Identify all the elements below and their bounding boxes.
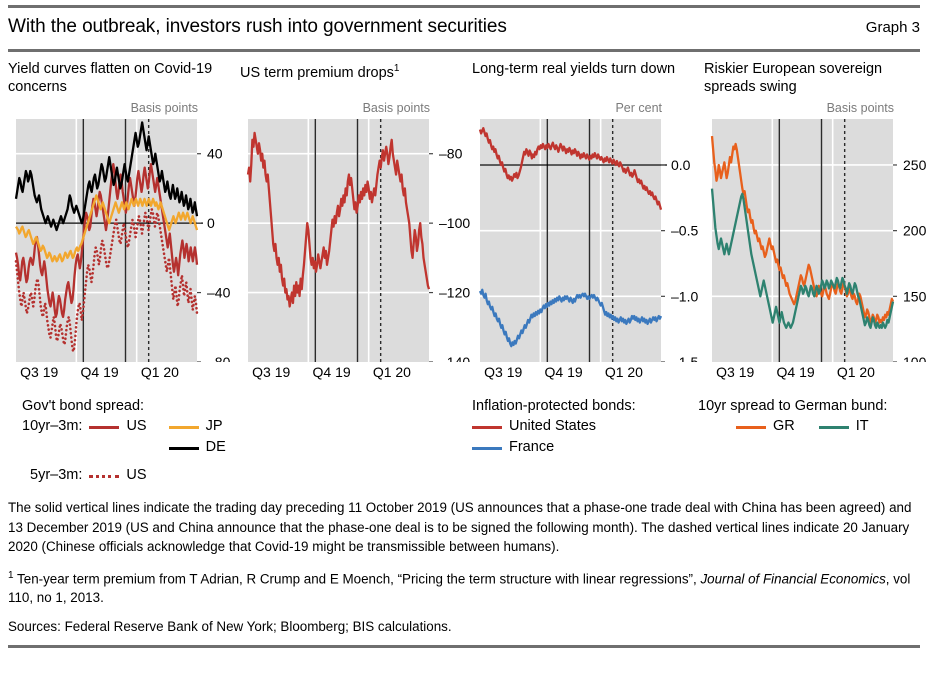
panel-title: Yield curves flatten on Covid-19 concern…	[8, 60, 240, 100]
legend-panel1: Gov't bond spread: 10yr–3m: US JP 10yr–3…	[8, 396, 236, 486]
legend-item-de: 10yr–3m: US DE	[8, 437, 236, 458]
legend-label-us-5yr: US	[126, 465, 146, 486]
panel-term-premium: US term premium drops1 Basis points –80–…	[240, 60, 472, 386]
panel-title: US term premium drops1	[240, 60, 472, 100]
bottom-rule	[8, 645, 920, 648]
plot-area: 0.0–0.5–1.0–1.5	[472, 117, 704, 362]
legend-label-de: DE	[206, 437, 226, 458]
panel-sovereign-spreads: Riskier European sovereign spreads swing…	[704, 60, 928, 386]
x-tick-label: Q1 20	[141, 364, 179, 380]
sources-line: Sources: Federal Reserve Bank of New Yor…	[8, 617, 920, 637]
legend-label-united-states: United States	[509, 416, 596, 437]
panel-title: Long-term real yields turn down	[472, 60, 704, 100]
panel-real-yields: Long-term real yields turn down Per cent…	[472, 60, 704, 386]
legend-item-france: France	[464, 437, 692, 458]
footnote-text-a: Ten-year term premium from T Adrian, R C…	[17, 571, 700, 586]
panel-title: Riskier European sovereign spreads swing	[704, 60, 928, 100]
x-axis: Q3 19Q4 19Q1 20	[704, 362, 928, 386]
svg-text:–100: –100	[439, 215, 470, 231]
svg-text:–80: –80	[207, 354, 231, 362]
footnote-number: 1	[8, 570, 14, 581]
legend-swatch-us-solid	[89, 421, 119, 433]
legend-heading: Inflation-protected bonds:	[464, 396, 692, 416]
legend-item-gr-it: GR IT	[692, 416, 920, 437]
graph-number: Graph 3	[866, 19, 920, 36]
legend-swatch-it	[819, 421, 849, 433]
panel-yield-curves: Yield curves flatten on Covid-19 concern…	[8, 60, 240, 386]
legend-swatch-united-states	[472, 421, 502, 433]
legend-panel4: 10yr spread to German bund: GR IT	[692, 396, 920, 486]
plot-area: 400–40–80	[8, 117, 240, 362]
footnote-1: 1 Ten-year term premium from T Adrian, R…	[8, 566, 920, 608]
plot-area: –80–100–120–140	[240, 117, 472, 362]
panel-unit-label: Basis points	[704, 100, 928, 117]
x-tick-label: Q4 19	[777, 364, 815, 380]
page-title: With the outbreak, investors rush into g…	[8, 14, 507, 39]
legend-swatch-us-dotted	[89, 470, 119, 482]
panel-title-text: Riskier European sovereign spreads swing	[704, 61, 882, 95]
x-axis: Q3 19Q4 19Q1 20	[8, 362, 240, 386]
x-tick-label: Q3 19	[20, 364, 58, 380]
legend-panel3: Inflation-protected bonds: United States…	[464, 396, 692, 486]
legend-item-united-states: United States	[464, 416, 692, 437]
x-tick-label: Q3 19	[484, 364, 522, 380]
x-tick-label: Q1 20	[605, 364, 643, 380]
legend-swatch-france	[472, 442, 502, 454]
panel-row: Yield curves flatten on Covid-19 concern…	[8, 60, 920, 386]
legend-swatch-gr	[736, 421, 766, 433]
svg-text:–1.5: –1.5	[671, 354, 698, 362]
legend-heading: Gov't bond spread:	[8, 396, 236, 416]
svg-text:–140: –140	[439, 354, 470, 362]
svg-text:0: 0	[207, 215, 215, 231]
legend-label-us: US	[126, 416, 146, 437]
x-axis: Q3 19Q4 19Q1 20	[240, 362, 472, 386]
x-tick-label: Q3 19	[716, 364, 754, 380]
footnote-marker: 1	[394, 63, 400, 74]
svg-text:250: 250	[903, 157, 927, 173]
panel-unit-label: Basis points	[240, 100, 472, 117]
panel-unit-label: Per cent	[472, 100, 704, 117]
header-rule	[8, 49, 920, 52]
panel-title-text: Yield curves flatten on Covid-19 concern…	[8, 61, 212, 95]
svg-text:–80: –80	[439, 146, 463, 162]
svg-text:–120: –120	[439, 285, 470, 301]
svg-text:–1.0: –1.0	[671, 288, 698, 304]
panel-title-text: US term premium drops	[240, 65, 394, 81]
legend-row: Gov't bond spread: 10yr–3m: US JP 10yr–3…	[8, 396, 920, 486]
legend-label-it: IT	[856, 416, 869, 437]
plot-area: 250200150100	[704, 117, 928, 362]
legend-series-label: 10yr–3m:	[22, 416, 82, 437]
note-vertical-lines: The solid vertical lines indicate the tr…	[8, 498, 920, 557]
legend-label-france: France	[509, 437, 554, 458]
x-tick-label: Q1 20	[373, 364, 411, 380]
svg-text:150: 150	[903, 288, 927, 304]
legend-heading: 10yr spread to German bund:	[692, 396, 920, 416]
legend-label-jp: JP	[206, 416, 223, 437]
svg-text:200: 200	[903, 223, 927, 239]
svg-text:40: 40	[207, 146, 223, 162]
legend-item-5yr3m: 5yr–3m: US	[8, 465, 236, 486]
legend-swatch-jp	[169, 421, 199, 433]
figure-notes: The solid vertical lines indicate the tr…	[8, 498, 920, 636]
x-tick-label: Q3 19	[252, 364, 290, 380]
svg-text:–0.5: –0.5	[671, 223, 698, 239]
footnote-journal-title: Journal of Financial Economics	[700, 571, 885, 586]
x-tick-label: Q4 19	[81, 364, 119, 380]
legend-series-label-5yr: 5yr–3m:	[30, 465, 82, 486]
legend-swatch-de	[169, 442, 199, 454]
figure-page: With the outbreak, investors rush into g…	[0, 5, 928, 677]
panel-title-text: Long-term real yields turn down	[472, 61, 675, 77]
legend-spacer-panel2	[236, 396, 464, 486]
x-axis: Q3 19Q4 19Q1 20	[472, 362, 704, 386]
svg-text:–40: –40	[207, 285, 231, 301]
x-tick-label: Q1 20	[837, 364, 875, 380]
figure-header: With the outbreak, investors rush into g…	[8, 8, 920, 43]
x-tick-label: Q4 19	[313, 364, 351, 380]
panel-unit-label: Basis points	[8, 100, 240, 117]
svg-text:100: 100	[903, 354, 927, 362]
legend-item-10yr3m: 10yr–3m: US JP	[8, 416, 236, 437]
x-tick-label: Q4 19	[545, 364, 583, 380]
legend-label-gr: GR	[773, 416, 795, 437]
svg-text:0.0: 0.0	[671, 157, 691, 173]
